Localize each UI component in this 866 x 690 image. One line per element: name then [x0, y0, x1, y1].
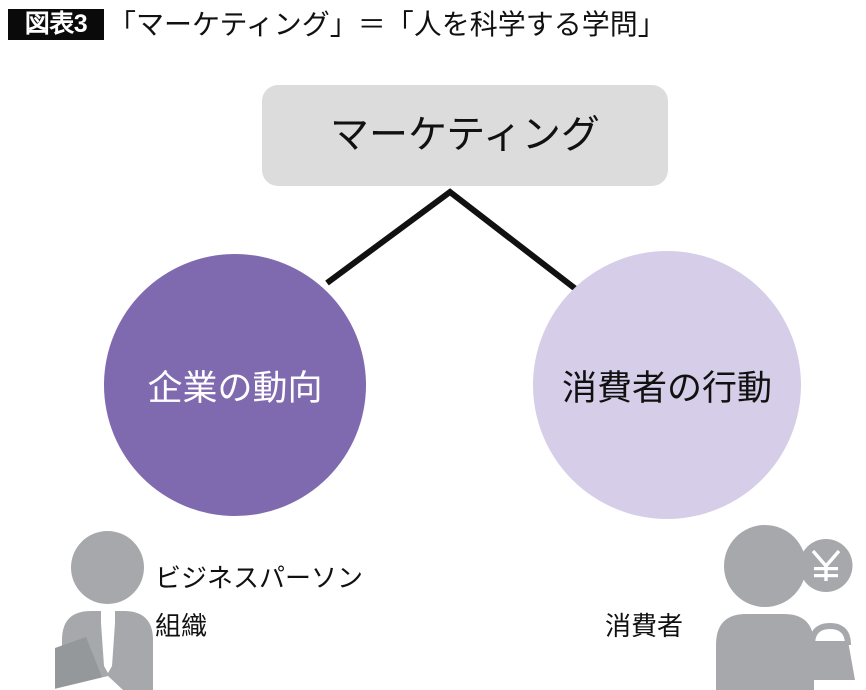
- businessperson-with-laptop-icon: [50, 531, 153, 690]
- footer-icons-layer: [0, 0, 866, 690]
- handbag-body-icon: [806, 641, 855, 680]
- yen-stem-icon: [824, 566, 827, 581]
- yen-coin-icon: [800, 539, 853, 592]
- person-icon: [716, 525, 814, 690]
- businessperson-head-icon: [71, 531, 144, 604]
- handbag-icon: [806, 626, 855, 680]
- caption-consumer: 消費者: [605, 606, 683, 643]
- person-body-icon: [716, 614, 814, 690]
- person-head-icon: [724, 525, 806, 607]
- caption-organization: 組織: [155, 606, 207, 643]
- figure-container: 図表3 「マーケティング」＝「人を科学する学問」 マーケティング 企業の動向 消…: [0, 0, 866, 690]
- caption-businessperson: ビジネスパーソン: [155, 558, 363, 595]
